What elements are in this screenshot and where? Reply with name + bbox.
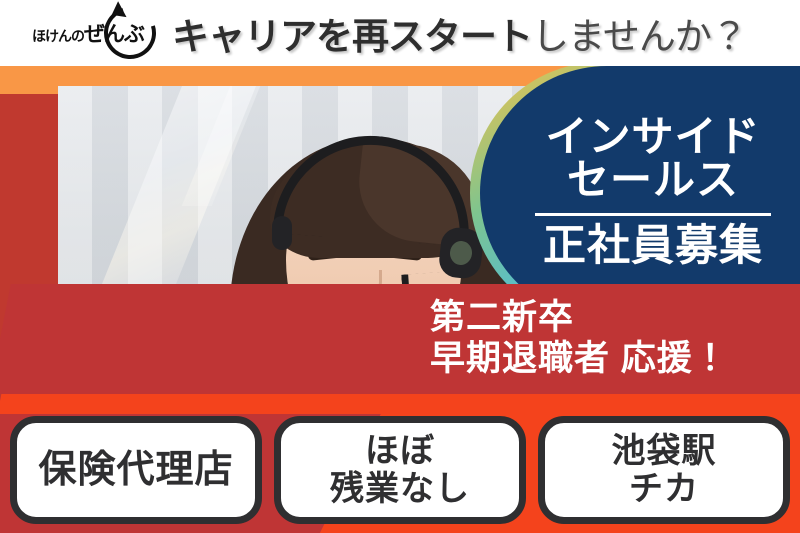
pill-near-ikebukuro-station-line-2: チカ	[629, 470, 699, 508]
logo-text: ほけんのぜんぶ	[26, 18, 144, 48]
pill-almost-no-overtime[interactable]: ほぼ 残業なし	[274, 416, 526, 524]
artwork-stage: インサイド セールス 正社員募集 第二新卒 早期退職者 応援！ 保険代理店 ほぼ…	[0, 66, 800, 533]
job-ad-banner: ほけんのぜんぶ キャリアを再スタートしませんか？	[0, 0, 800, 533]
headline: キャリアを再スタートしませんか？	[172, 6, 747, 60]
headset-band-icon	[273, 129, 476, 246]
pill-almost-no-overtime-line-2: 残業なし	[330, 470, 470, 508]
red-banner-line-2: 早期退職者 応援！	[430, 339, 729, 380]
badge-line-1: インサイド	[545, 116, 760, 159]
logo-text-main: ぜんぶ	[84, 23, 144, 46]
badge-divider	[535, 213, 771, 216]
company-logo: ほけんのぜんぶ	[0, 3, 170, 63]
job-title-badge: インサイド セールス 正社員募集	[480, 66, 800, 320]
red-banner-text: 第二新卒 早期退職者 応援！	[0, 284, 800, 394]
pill-insurance-agency[interactable]: 保険代理店	[10, 416, 262, 524]
logo-text-prefix: ほけんの	[32, 28, 84, 44]
headset-earpiece-left	[272, 216, 292, 250]
pill-near-ikebukuro-station[interactable]: 池袋駅 チカ	[538, 416, 790, 524]
badge-line-2: セールス	[567, 159, 739, 202]
badge-line-3: 正社員募集	[543, 225, 763, 268]
pill-insurance-agency-line-1: 保険代理店	[38, 449, 233, 492]
headline-strong: キャリアを再スタート	[172, 16, 532, 57]
pill-near-ikebukuro-station-line-1: 池袋駅	[612, 432, 717, 470]
banner-header: ほけんのぜんぶ キャリアを再スタートしませんか？	[0, 0, 800, 66]
feature-pill-row: 保険代理店 ほぼ 残業なし 池袋駅 チカ	[0, 411, 800, 529]
red-banner-line-1: 第二新卒	[430, 298, 574, 339]
pill-almost-no-overtime-line-1: ほぼ	[365, 432, 435, 470]
headline-light: しませんか？	[532, 16, 747, 57]
